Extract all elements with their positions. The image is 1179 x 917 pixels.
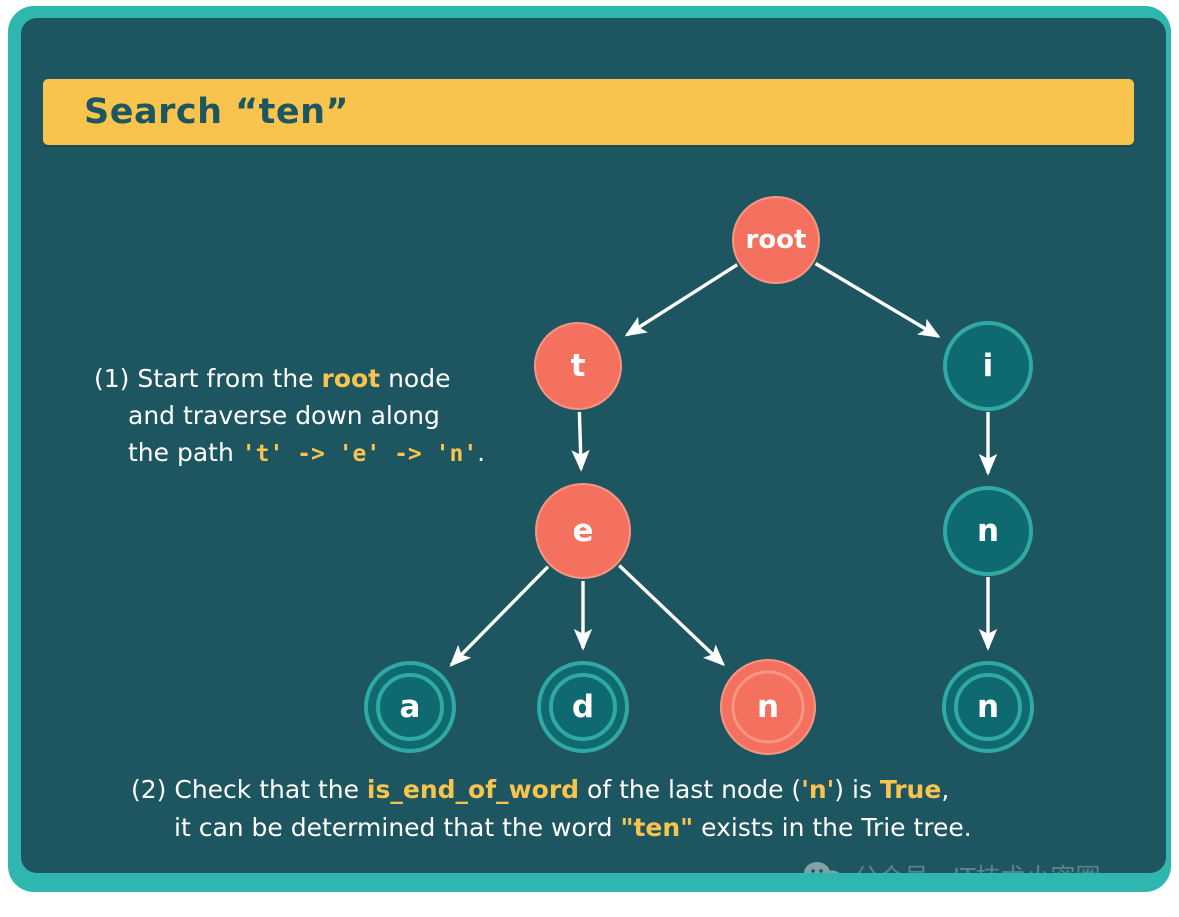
tree-node-n_in[interactable]: n bbox=[944, 663, 1032, 751]
tree-node-a[interactable]: a bbox=[366, 663, 454, 751]
slide-canvas: Search “ten” roottienadnn (1) Start from… bbox=[0, 0, 1179, 917]
tree-edge bbox=[816, 264, 939, 337]
tree-edge bbox=[619, 565, 723, 664]
node-label: d bbox=[572, 689, 594, 725]
node-label: n bbox=[757, 689, 779, 725]
step-1-line3-a: the path bbox=[128, 438, 242, 467]
step-1-line2: and traverse down along bbox=[94, 397, 564, 434]
step-2-ten-highlight: "ten" bbox=[620, 813, 693, 842]
tree-node-e[interactable]: e bbox=[536, 484, 630, 578]
tree-nodes: roottienadnn bbox=[366, 197, 1032, 754]
step-2-marker: (2) bbox=[131, 775, 166, 804]
node-label: a bbox=[400, 689, 421, 725]
tree-edge bbox=[451, 567, 548, 665]
node-label: n bbox=[977, 689, 999, 725]
step-2-n-highlight: 'n' bbox=[801, 775, 834, 804]
step-2-line1-c: ) is bbox=[834, 775, 880, 804]
tree-node-d[interactable]: d bbox=[539, 663, 627, 751]
diagram-board: Search “ten” roottienadnn (1) Start from… bbox=[21, 18, 1166, 873]
step-1-line1-a: Start from the bbox=[137, 364, 321, 393]
step-2-true-highlight: True bbox=[880, 775, 941, 804]
step-2-line2-a: it can be determined that the word bbox=[174, 813, 620, 842]
step-1-marker: (1) bbox=[94, 364, 129, 393]
tree-edge bbox=[579, 412, 581, 469]
step-1-text: (1) Start from the root node and travers… bbox=[94, 360, 564, 473]
node-label: i bbox=[983, 348, 994, 384]
node-label: root bbox=[746, 225, 807, 255]
tree-node-root[interactable]: root bbox=[733, 197, 819, 283]
step-2-line1-a: Check that the bbox=[174, 775, 367, 804]
node-label: e bbox=[572, 513, 593, 549]
tree-node-i[interactable]: i bbox=[945, 323, 1031, 409]
step-2-text: (2) Check that the is_end_of_word of the… bbox=[131, 771, 1071, 847]
step-1-root-highlight: root bbox=[322, 364, 381, 393]
step-2-isendofword-highlight: is_end_of_word bbox=[367, 775, 579, 804]
step-2-line1-d: , bbox=[941, 775, 949, 804]
tree-node-n_t[interactable]: n bbox=[721, 660, 815, 754]
step-1-path-highlight: 't' -> 'e' -> 'n' bbox=[242, 441, 477, 467]
step-1-line3-b: . bbox=[477, 438, 485, 467]
step-2-line2-b: exists in the Trie tree. bbox=[693, 813, 972, 842]
step-2-line1-b: of the last node ( bbox=[579, 775, 801, 804]
node-label: t bbox=[571, 348, 586, 384]
tree-node-n_i[interactable]: n bbox=[945, 488, 1031, 574]
node-label: n bbox=[977, 513, 999, 549]
step-1-line1-b: node bbox=[380, 364, 450, 393]
tree-edge bbox=[627, 265, 737, 335]
